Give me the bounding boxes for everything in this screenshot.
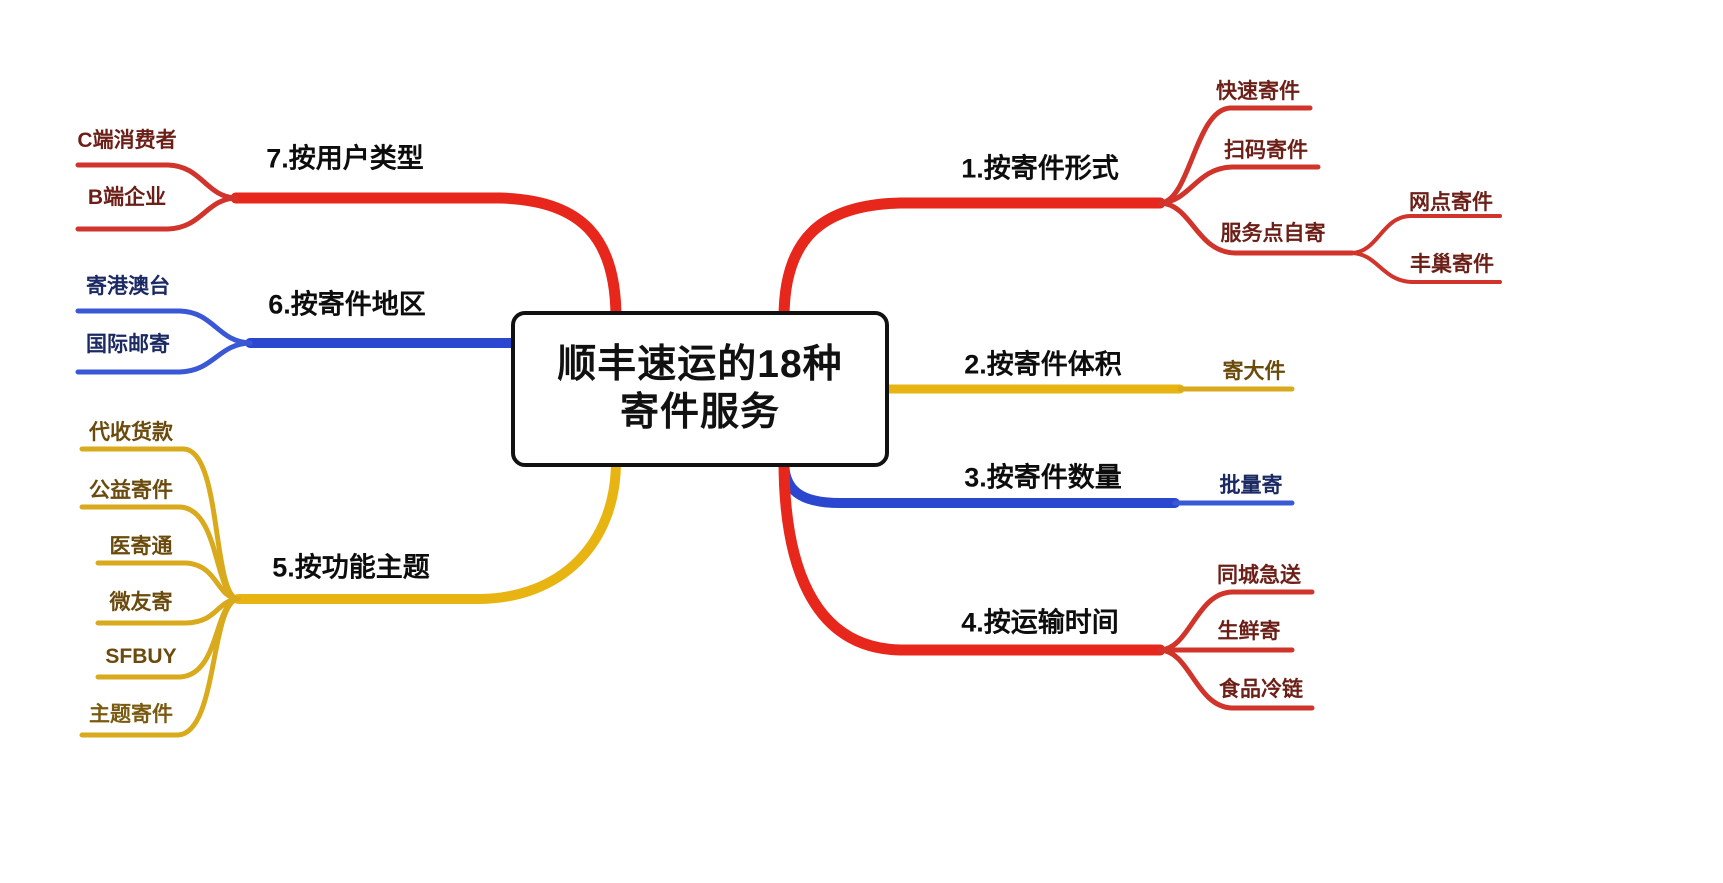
leaf-label-sfbuy[interactable]: SFBUY — [105, 645, 176, 669]
branch-label-5[interactable]: 5.按功能主题 — [272, 546, 430, 585]
leaf-label-big-item[interactable]: 寄大件 — [1223, 355, 1286, 385]
branch-label-1[interactable]: 1.按寄件形式 — [961, 147, 1119, 186]
leaf-label-fast-delivery[interactable]: 快速寄件 — [1216, 75, 1300, 105]
central-node[interactable]: 顺丰速运的18种 寄件服务 — [511, 311, 889, 467]
branch-label-2[interactable]: 2.按寄件体积 — [964, 343, 1122, 382]
leaf-label-hk-macao-taiwan[interactable]: 寄港澳台 — [86, 270, 170, 300]
leaf-label-charity-send[interactable]: 公益寄件 — [89, 474, 173, 504]
leaf-label-weiyou-send[interactable]: 微友寄 — [110, 586, 173, 616]
branch-label-4[interactable]: 4.按运输时间 — [961, 601, 1119, 640]
leaf-label-bulk-send[interactable]: 批量寄 — [1220, 469, 1283, 499]
leaf-label-service-point-self-send[interactable]: 服务点自寄 — [1221, 217, 1326, 247]
connector-root-to-branch1 — [784, 203, 1160, 318]
leaf-label-food-cold-chain[interactable]: 食品冷链 — [1219, 673, 1303, 703]
leaf-label-same-city-express[interactable]: 同城急送 — [1217, 559, 1301, 589]
leaf-label-theme-send[interactable]: 主题寄件 — [89, 698, 173, 728]
leaf-label-fengchao-send[interactable]: 丰巢寄件 — [1410, 248, 1494, 278]
leaf-label-fresh-send[interactable]: 生鲜寄 — [1218, 615, 1281, 645]
branch-label-7[interactable]: 7.按用户类型 — [266, 137, 424, 176]
branch-label-6[interactable]: 6.按寄件地区 — [268, 283, 426, 322]
leaf-label-medical-send[interactable]: 医寄通 — [110, 530, 173, 560]
central-node-line-2: 寄件服务 — [620, 389, 780, 437]
mindmap-canvas: 顺丰速运的18种 寄件服务 1.按寄件形式 快速寄件 扫码寄件 服务点自寄 网点… — [0, 0, 1723, 883]
leaf-label-scan-send[interactable]: 扫码寄件 — [1224, 134, 1308, 164]
leaf-label-cash-on-delivery[interactable]: 代收货款 — [89, 416, 173, 446]
leaf-label-c-end-consumer[interactable]: C端消费者 — [77, 124, 176, 154]
leaf-label-international-mail[interactable]: 国际邮寄 — [86, 328, 170, 358]
central-node-line-1: 顺丰速运的18种 — [557, 341, 842, 389]
branch-label-3[interactable]: 3.按寄件数量 — [964, 456, 1122, 495]
leaf-label-branch-point-send[interactable]: 网点寄件 — [1409, 186, 1493, 216]
leaf-label-b-end-enterprise[interactable]: B端企业 — [88, 181, 166, 211]
